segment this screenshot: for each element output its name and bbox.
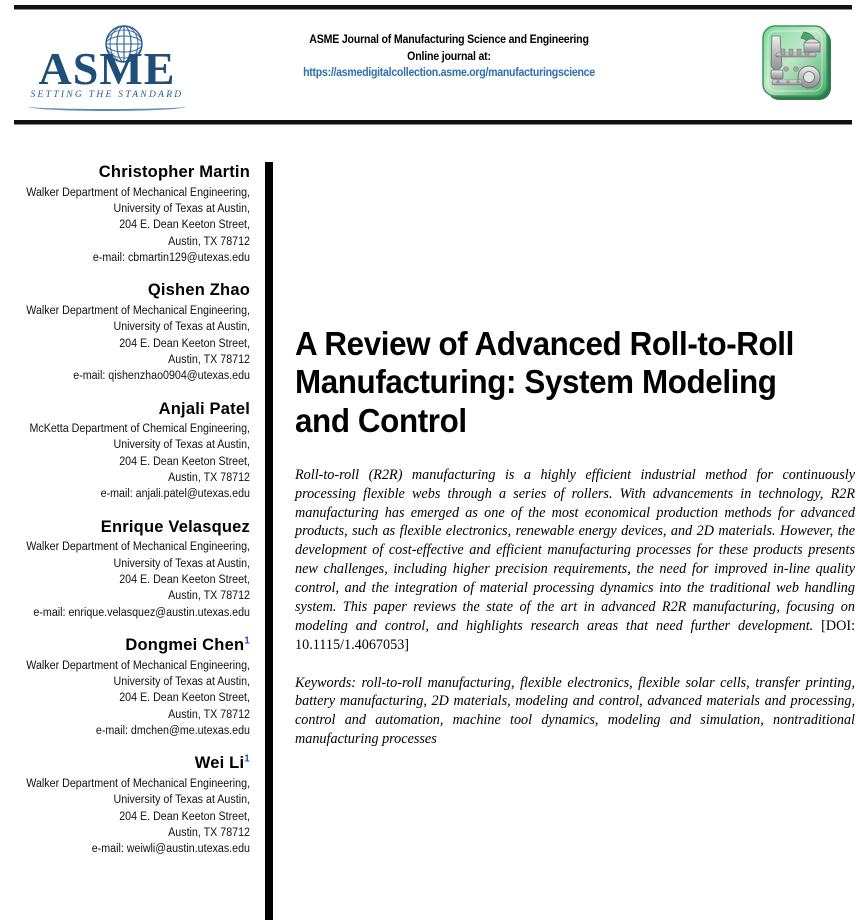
keywords-text: Keywords: roll-to-roll manufacturing, fl… <box>295 674 855 750</box>
author-affiliation-line: McKetta Department of Chemical Engineeri… <box>18 421 251 437</box>
author-affiliation-line: Austin, TX 78712 <box>18 707 251 723</box>
online-journal-label: Online journal at: <box>233 49 665 66</box>
author-email[interactable]: e-mail: qishenzhao0904@utexas.edu <box>18 368 251 384</box>
abstract-text: Roll-to-roll (R2R) manufacturing is a hi… <box>295 466 855 655</box>
author-email[interactable]: e-mail: enrique.velasquez@austin.utexas.… <box>18 605 251 621</box>
author-name: Wei Li1 <box>0 753 250 774</box>
masthead-bottom-rule <box>14 120 852 124</box>
asme-logo-swoosh <box>28 102 186 111</box>
author-block: Wei Li1Walker Department of Mechanical E… <box>0 753 250 857</box>
asme-logo-tagline: SETTING THE STANDARD <box>22 90 192 100</box>
author-email[interactable]: e-mail: dmchen@me.utexas.edu <box>18 723 251 739</box>
author-block: Qishen ZhaoWalker Department of Mechanic… <box>0 280 250 384</box>
abstract-body: Roll-to-roll (R2R) manufacturing is a hi… <box>295 467 855 634</box>
page-title: A Review of Advanced Roll-to-Roll Manufa… <box>295 325 827 440</box>
main-column: A Review of Advanced Roll-to-Roll Manufa… <box>295 162 855 763</box>
author-affiliation-line: University of Texas at Austin, <box>18 674 251 690</box>
author-affiliation-line: Austin, TX 78712 <box>18 352 251 368</box>
journal-url-link[interactable]: https://asmedigitalcollection.asme.org/m… <box>233 65 665 82</box>
author-block: Christopher MartinWalker Department of M… <box>0 162 250 266</box>
author-affiliation-line: Austin, TX 78712 <box>18 588 251 604</box>
column-divider <box>265 162 273 920</box>
author-name: Enrique Velasquez <box>0 517 250 538</box>
author-name: Qishen Zhao <box>0 280 250 301</box>
author-affiliation-line: 204 E. Dean Keeton Street, <box>18 809 251 825</box>
masthead: ASME SETTING THE STANDARD ASME Journal o… <box>14 14 852 114</box>
masthead-top-rule <box>14 5 852 9</box>
author-block: Dongmei Chen1Walker Department of Mechan… <box>0 635 250 739</box>
author-affiliation-line: University of Texas at Austin, <box>18 201 251 217</box>
author-footnote-marker[interactable]: 1 <box>244 636 250 647</box>
journal-name: ASME Journal of Manufacturing Science an… <box>233 32 665 49</box>
author-affiliation-line: 204 E. Dean Keeton Street, <box>18 690 251 706</box>
asme-logo: ASME SETTING THE STANDARD <box>22 24 192 108</box>
author-block: Anjali PatelMcKetta Department of Chemic… <box>0 399 250 503</box>
author-affiliation-line: University of Texas at Austin, <box>18 319 251 335</box>
author-affiliation-line: 204 E. Dean Keeton Street, <box>18 572 251 588</box>
author-name: Anjali Patel <box>0 399 250 420</box>
author-name: Christopher Martin <box>0 162 250 183</box>
author-affiliation-line: Walker Department of Mechanical Engineer… <box>18 185 251 201</box>
asme-wordmark: ASME <box>22 46 192 92</box>
author-affiliation-line: Austin, TX 78712 <box>18 825 251 841</box>
author-footnote-marker[interactable]: 1 <box>244 754 250 765</box>
paper-first-page: ASME SETTING THE STANDARD ASME Journal o… <box>0 0 866 920</box>
author-affiliation-line: 204 E. Dean Keeton Street, <box>18 454 251 470</box>
author-affiliation-line: Walker Department of Mechanical Engineer… <box>18 303 251 319</box>
author-email[interactable]: e-mail: cbmartin129@utexas.edu <box>18 250 251 266</box>
author-name: Dongmei Chen1 <box>0 635 250 656</box>
journal-masthead-text: ASME Journal of Manufacturing Science an… <box>214 32 684 82</box>
author-affiliation-line: Walker Department of Mechanical Engineer… <box>18 539 251 555</box>
author-email[interactable]: e-mail: anjali.patel@utexas.edu <box>18 486 251 502</box>
author-affiliation-line: Walker Department of Mechanical Engineer… <box>18 776 251 792</box>
author-affiliation-line: University of Texas at Austin, <box>18 556 251 572</box>
author-affiliation-line: 204 E. Dean Keeton Street, <box>18 217 251 233</box>
journal-cover-thumbnail <box>758 22 838 110</box>
author-block: Enrique VelasquezWalker Department of Me… <box>0 517 250 621</box>
author-affiliation-line: Austin, TX 78712 <box>18 470 251 486</box>
author-affiliation-line: 204 E. Dean Keeton Street, <box>18 336 251 352</box>
author-affiliation-line: University of Texas at Austin, <box>18 792 251 808</box>
author-affiliation-line: Austin, TX 78712 <box>18 234 251 250</box>
author-list: Christopher MartinWalker Department of M… <box>0 162 250 872</box>
author-affiliation-line: Walker Department of Mechanical Engineer… <box>18 658 251 674</box>
author-affiliation-line: University of Texas at Austin, <box>18 437 251 453</box>
author-email[interactable]: e-mail: weiwli@austin.utexas.edu <box>18 841 251 857</box>
